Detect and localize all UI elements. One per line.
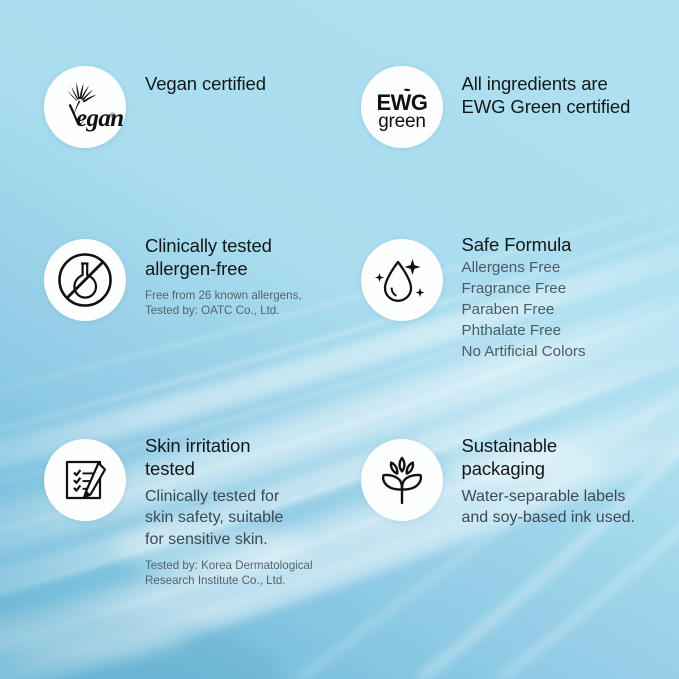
list-item: Paraben Free	[462, 300, 586, 321]
safe-formula-title: Safe Formula	[462, 233, 586, 256]
feature-safe-formula: Safe Formula Allergens Free Fragrance Fr…	[355, 233, 666, 433]
skin-irritation-body: Clinically tested for skin safety, suita…	[145, 486, 313, 551]
list-item: Allergens Free	[462, 258, 586, 279]
safe-formula-list: Allergens Free Fragrance Free Paraben Fr…	[462, 258, 586, 362]
skin-irritation-text: Skin irritation tested Clinically tested…	[126, 433, 313, 589]
no-flask-icon	[50, 245, 120, 315]
vegan-wordmark: egan	[76, 105, 123, 132]
sustainable-title: Sustainable packaging	[462, 434, 635, 481]
feature-skin-irritation: Skin irritation tested Clinically tested…	[44, 433, 355, 679]
ewg-text: All ingredients are EWG Green certified	[443, 58, 631, 119]
checklist-pencil-icon	[50, 445, 120, 515]
feature-sustainable-packaging: Sustainable packaging Water-separable la…	[355, 433, 666, 679]
allergen-badge	[44, 239, 126, 321]
ewg-title: All ingredients are EWG Green certified	[462, 72, 631, 119]
skin-irritation-fine-print: Tested by: Korea Dermatological Research…	[145, 558, 313, 589]
list-item: Phthalate Free	[462, 321, 586, 342]
sustainable-text: Sustainable packaging Water-separable la…	[443, 433, 635, 529]
feature-ewg: EWG green All ingredients are EWG Green …	[355, 58, 666, 233]
vegan-title: Vegan certified	[145, 72, 266, 95]
skin-irritation-badge	[44, 439, 126, 521]
sustainable-body: Water-separable labels and soy-based ink…	[462, 486, 635, 530]
ewg-bottom-text: green	[378, 111, 426, 132]
list-item: Fragrance Free	[462, 279, 586, 300]
ewg-badge: EWG green	[361, 66, 443, 148]
allergen-fine-print: Free from 26 known allergens, Tested by:…	[145, 288, 302, 319]
ewg-green-logo-icon: EWG green	[364, 69, 440, 145]
sprout-icon	[367, 445, 437, 515]
safe-formula-badge	[361, 239, 443, 321]
allergen-title: Clinically tested allergen-free	[145, 234, 302, 281]
feature-allergen-free: Clinically tested allergen-free Free fro…	[44, 233, 355, 433]
feature-vegan: egan ® Vegan certified	[44, 58, 355, 233]
vegan-logo-icon: egan ®	[47, 69, 123, 145]
list-item: No Artificial Colors	[462, 342, 586, 363]
vegan-text: Vegan certified	[126, 58, 266, 95]
registered-mark: ®	[110, 112, 116, 120]
vegan-badge: egan ®	[44, 66, 126, 148]
skin-irritation-title: Skin irritation tested	[145, 434, 313, 481]
safe-formula-text: Safe Formula Allergens Free Fragrance Fr…	[443, 233, 586, 362]
feature-grid: egan ® Vegan certified EWG green All ing…	[0, 0, 679, 679]
sustainable-badge	[361, 439, 443, 521]
water-drop-sparkle-icon	[367, 245, 437, 315]
allergen-text: Clinically tested allergen-free Free fro…	[126, 233, 302, 319]
